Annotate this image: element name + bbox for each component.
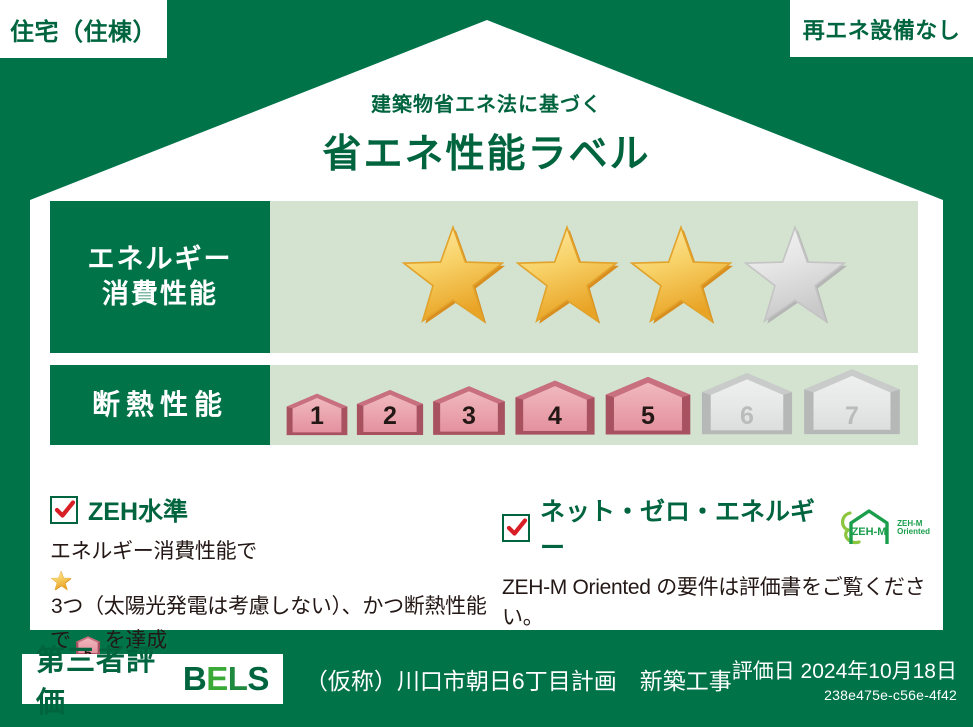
star-empty-icon (741, 223, 849, 331)
insulation-performance-label: 断熱性能 (50, 365, 270, 445)
insulation-grade-7: 7 (800, 365, 904, 437)
bels-letter: L (228, 660, 248, 697)
inline-star-icon (50, 570, 502, 592)
insulation-grade-2: 2 (354, 387, 426, 437)
energy-performance-label: 住宅（住棟） 再エネ設備なし 建築物省エネ法に基づく 省エネ性能ラベル エネルギ… (0, 0, 973, 727)
title-subtitle: 建築物省エネ法に基づく (0, 88, 973, 117)
energy-label-line1: エネルギー (88, 242, 233, 277)
star-rating-item (627, 223, 735, 331)
star-rating-item (399, 223, 507, 331)
criteria-section: ZEH水準 エネルギー消費性能で3つ（太陽光発電は考慮しない）、かつ断熱性能で5… (50, 492, 930, 612)
energy-label-line2: 消費性能 (102, 277, 218, 312)
criterion-nze-description: ZEH-M Oriented の要件は評価書をご覧ください。 (502, 573, 930, 634)
evaluation-id: 238e475e-c56e-4f42 (732, 687, 957, 703)
svg-text:ZEH-M: ZEH-M (852, 526, 887, 538)
insulation-grade-scale: 1234567 (270, 365, 918, 445)
check-icon (506, 517, 528, 539)
bels-letter: E (206, 660, 228, 697)
grade-house-icon (354, 387, 426, 437)
page-title: 省エネ性能ラベル (0, 123, 973, 179)
criterion-zeh-standard: ZEH水準 エネルギー消費性能で3つ（太陽光発電は考慮しない）、かつ断熱性能で5… (50, 492, 502, 612)
criterion-zeh-header: ZEH水準 (50, 492, 502, 528)
grade-house-icon (800, 365, 904, 437)
check-icon (54, 499, 76, 521)
insulation-grade-1: 1 (284, 391, 350, 437)
zeh-m-house-icon: ZEH-M (839, 508, 895, 548)
insulation-grade-6: 6 (698, 369, 796, 437)
star-filled-icon (513, 223, 621, 331)
zeh-standard-checkbox[interactable] (50, 496, 78, 524)
insulation-grade-4: 4 (512, 377, 598, 437)
energy-star-rating (270, 201, 918, 353)
criterion-zeh-title: ZEH水準 (88, 492, 188, 528)
energy-performance-label: エネルギー 消費性能 (50, 201, 270, 353)
title-block: 建築物省エネ法に基づく 省エネ性能ラベル (0, 88, 973, 179)
criterion-net-zero-energy: ネット・ゼロ・エネルギー ZEH-M ZEH-M Oriented ZEH-M … (502, 492, 930, 612)
zeh-m-oriented-logo: ZEH-M ZEH-M Oriented (839, 508, 930, 548)
star-filled-icon (50, 570, 72, 592)
bels-letter: B (183, 660, 206, 697)
star-rating-item (513, 223, 621, 331)
project-name: （仮称）川口市朝日6丁目計画 新築工事 (305, 662, 732, 696)
energy-performance-row: エネルギー 消費性能 (50, 201, 918, 353)
insulation-performance-row: 断熱性能 1234567 (50, 365, 918, 445)
criterion-nze-title: ネット・ゼロ・エネルギー (540, 492, 823, 564)
insulation-grade-5: 5 (602, 373, 694, 437)
bels-badge: 第三者評価 BELS (22, 654, 283, 704)
evaluation-info: 評価日 2024年10月18日 238e475e-c56e-4f42 (732, 655, 957, 703)
building-type-tag: 住宅（住棟） (0, 0, 167, 58)
star-filled-icon (399, 223, 507, 331)
star-filled-icon (627, 223, 735, 331)
renewable-energy-tag: 再エネ設備なし (790, 0, 973, 57)
grade-house-icon (512, 377, 598, 437)
bels-letter: S (247, 660, 269, 697)
evaluation-date: 評価日 2024年10月18日 (732, 655, 957, 685)
star-rating-item (741, 223, 849, 331)
footer-bar: 第三者評価 BELS （仮称）川口市朝日6丁目計画 新築工事 評価日 2024年… (0, 630, 973, 727)
grade-house-icon (698, 369, 796, 437)
zeh-desc-pre: エネルギー消費性能で (50, 540, 257, 563)
bels-jp-label: 第三者評価 (36, 637, 173, 721)
grade-house-icon (284, 391, 350, 437)
zeh-m-logo-sub-line2: Oriented (897, 528, 930, 536)
criterion-nze-header: ネット・ゼロ・エネルギー ZEH-M ZEH-M Oriented (502, 492, 930, 564)
grade-house-icon (430, 383, 508, 437)
grade-house-icon (602, 373, 694, 437)
insulation-grade-3: 3 (430, 383, 508, 437)
net-zero-energy-checkbox[interactable] (502, 514, 530, 542)
bels-en-logo: BELS (183, 660, 269, 698)
